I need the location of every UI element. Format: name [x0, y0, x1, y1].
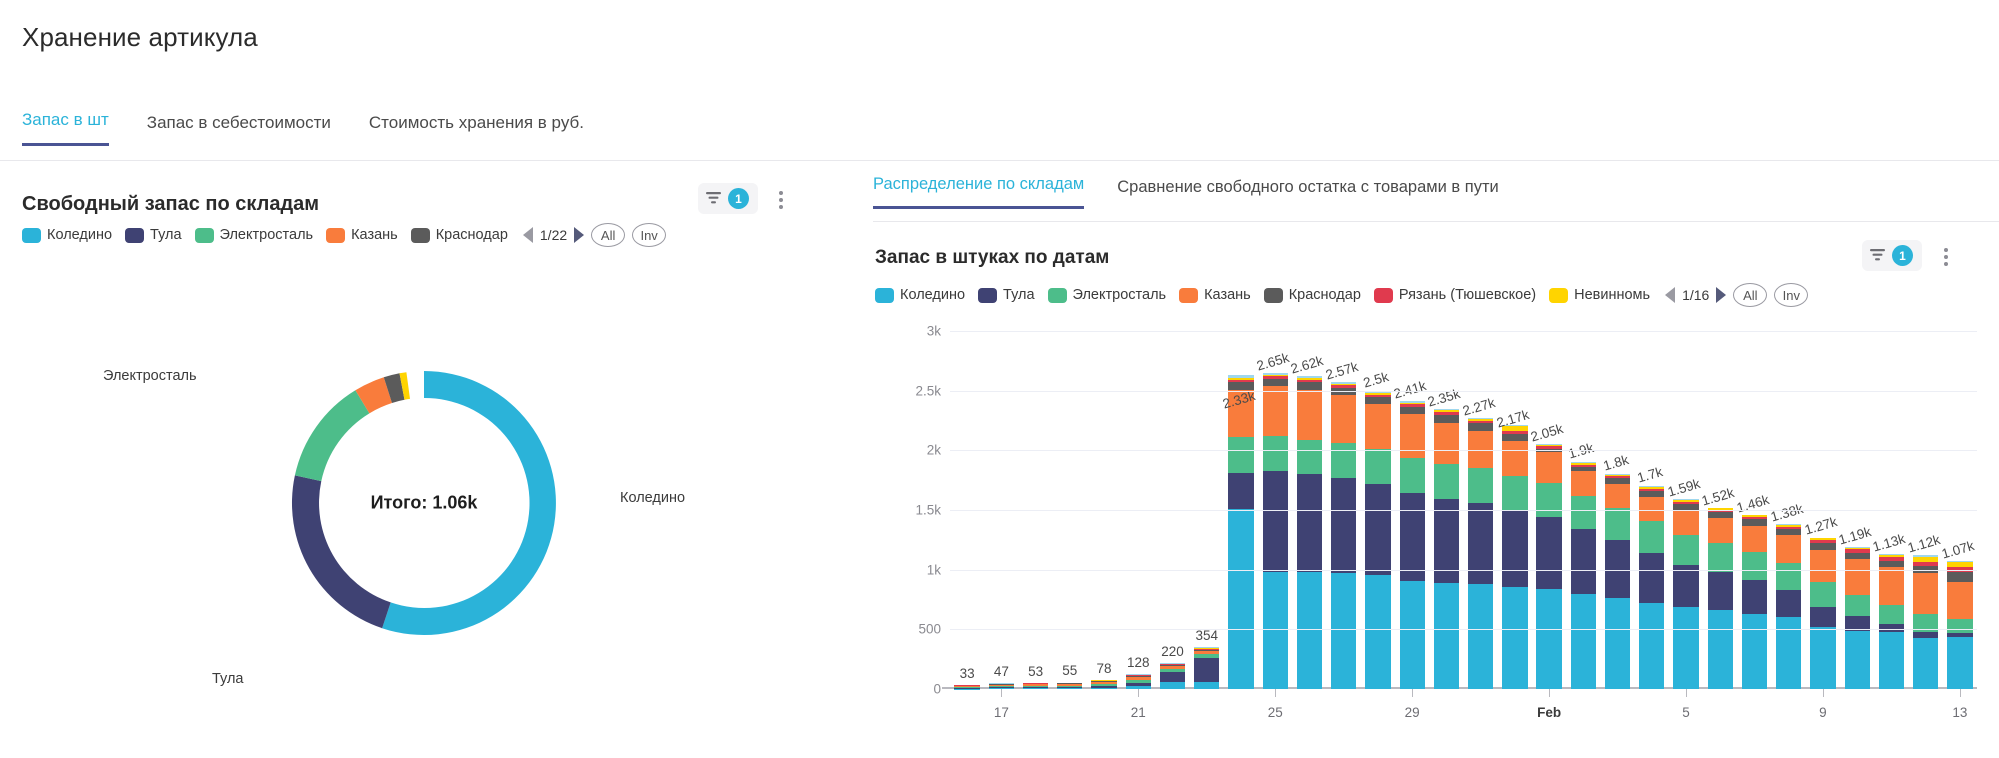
x-axis-tick-mark — [1686, 689, 1687, 697]
bar-segment — [1194, 682, 1219, 689]
x-axis-tick: 29 — [1405, 705, 1420, 720]
bar-stack: 1.46k — [1742, 515, 1767, 689]
x-axis-tick-mark — [1275, 689, 1276, 697]
bar-segment — [1776, 617, 1801, 689]
y-axis-tick: 2.5k — [915, 383, 941, 398]
bar-segment — [1331, 395, 1356, 443]
legend-label-krasnodar: Краснодар — [1289, 287, 1361, 303]
bar-segment — [1297, 474, 1322, 572]
bar-segment — [1468, 503, 1493, 584]
left-filter-control[interactable]: 1 — [698, 183, 758, 214]
left-panel: Свободный запас по складам 1 Коледино Ту… — [0, 161, 848, 758]
legend-label-krasnodar: Краснодар — [436, 227, 508, 243]
bar-segment — [1468, 584, 1493, 689]
bar-stack: 220 — [1160, 663, 1185, 689]
bar-segment — [1536, 483, 1561, 517]
legend-swatch-nevinnom — [1549, 288, 1568, 303]
legend-swatch-kazan — [326, 228, 345, 243]
bar-segment — [1297, 572, 1322, 689]
donut-label-elektrostal: Электросталь — [103, 368, 197, 384]
bar-segment — [1468, 423, 1493, 431]
legend-item-kazan[interactable]: Казань — [326, 227, 398, 243]
legend-label-tula: Тула — [150, 227, 182, 243]
bar-segment — [1879, 605, 1904, 624]
bar-segment — [1434, 415, 1459, 423]
funnel-icon — [1869, 248, 1886, 263]
bar-stack: 78 — [1091, 680, 1116, 689]
bar-value-label: 1.07k — [1940, 538, 1976, 562]
legend-item-kazan[interactable]: Казань — [1179, 287, 1251, 303]
bar-segment — [1673, 535, 1698, 565]
left-legend-pager: 1/22 All Inv — [523, 223, 666, 247]
x-axis-tick: 5 — [1682, 705, 1690, 720]
bar-segment — [1673, 565, 1698, 607]
bar-segment — [1673, 607, 1698, 689]
right-panel: Распределение по складам Сравнение свобо… — [848, 161, 1999, 758]
left-legend: Коледино Тула Электросталь Казань Красно… — [22, 223, 666, 247]
legend-swatch-tula — [125, 228, 144, 243]
bar-segment — [1400, 407, 1425, 414]
x-axis-tick-mark — [1412, 689, 1413, 697]
bar-stack: 1.9k — [1571, 462, 1596, 689]
bar-segment — [1879, 632, 1904, 689]
bar-stack: 2.33k — [1228, 411, 1253, 689]
bar-segment — [1263, 572, 1288, 689]
y-axis-tick: 3k — [927, 324, 941, 339]
bar-segment — [1845, 559, 1870, 595]
bar-value-label: 53 — [1028, 664, 1043, 679]
bar-segment — [1297, 382, 1322, 389]
right-sub-tab-bar: Распределение по складам Сравнение свобо… — [873, 175, 1499, 209]
bar-stack: 1.52k — [1708, 508, 1733, 689]
bar-segment — [1365, 397, 1390, 404]
x-axis-tick: 13 — [1952, 705, 1967, 720]
bar-stack: 1.13k — [1879, 554, 1904, 689]
left-panel-title: Свободный запас по складам — [22, 193, 319, 216]
bar-value-label: 78 — [1097, 661, 1112, 676]
bar-segment — [1605, 484, 1630, 508]
right-kebab-menu-icon[interactable] — [1940, 244, 1952, 270]
bar-segment — [1502, 434, 1527, 442]
bar-segment — [1605, 508, 1630, 540]
bar-stack: 2.5k — [1365, 391, 1390, 689]
bar-value-label: 2.65k — [1255, 350, 1291, 374]
bar-segment — [1742, 614, 1767, 689]
legend-swatch-koledino — [22, 228, 41, 243]
bar-segment — [1331, 573, 1356, 689]
bar-segment — [1365, 575, 1390, 689]
legend-swatch-ryazan — [1374, 288, 1393, 303]
bar-segment — [1536, 452, 1561, 483]
bar-stack: 1.27k — [1810, 537, 1835, 689]
gridline — [950, 331, 1977, 332]
tab-sravnenie-svobodnogo-ostatka[interactable]: Сравнение свободного остатка с товарами … — [1117, 178, 1498, 209]
bar-segment — [1879, 624, 1904, 632]
bar-segment — [1879, 567, 1904, 605]
bar-value-label: 220 — [1161, 644, 1184, 659]
bar-value-label: 55 — [1062, 663, 1077, 678]
y-axis-tick: 0 — [933, 682, 941, 697]
legend-label-tula: Тула — [1003, 287, 1035, 303]
bar-stack: 2.62k — [1297, 376, 1322, 689]
y-axis-tick: 2k — [927, 443, 941, 458]
top-tab-bar: Запас в шт Запас в себестоимости Стоимос… — [22, 110, 584, 146]
triangle-right-icon[interactable] — [574, 227, 584, 243]
legend-item-krasnodar[interactable]: Краснодар — [1264, 287, 1361, 303]
bar-segment — [1947, 572, 1972, 582]
legend-label-elektrostal: Электросталь — [1073, 287, 1167, 303]
bar-stack: 2.41k — [1400, 401, 1425, 689]
bar-segment — [1913, 573, 1938, 615]
bar-stack: 2.05k — [1536, 444, 1561, 689]
x-axis-tick: 21 — [1131, 705, 1146, 720]
bar-segment — [1571, 471, 1596, 497]
bar-stack: 1.19k — [1845, 547, 1870, 689]
bar-segment — [1536, 589, 1561, 689]
x-axis-tick: 17 — [994, 705, 1009, 720]
bar-segment — [1742, 526, 1767, 552]
bar-stack: 2.17k — [1502, 430, 1527, 689]
bar-segment — [1810, 607, 1835, 627]
bar-segment — [1571, 594, 1596, 689]
legend-label-elektrostal: Электросталь — [220, 227, 314, 243]
left-legend-all-button[interactable]: All — [591, 223, 625, 247]
bar-segment — [1947, 637, 1972, 690]
bar-segment — [1776, 535, 1801, 562]
bar-segment — [1639, 603, 1664, 689]
bar-value-label: 1.46k — [1734, 492, 1770, 516]
x-axis-tick-mark — [1960, 689, 1961, 697]
x-axis-tick-mark — [1001, 689, 1002, 697]
tab-stoimost-hraneniya[interactable]: Стоимость хранения в руб. — [369, 113, 584, 146]
bar-segment — [1776, 563, 1801, 590]
bar-value-label: 2.35k — [1426, 386, 1462, 410]
bar-segment — [1947, 619, 1972, 633]
bar-segment — [1228, 509, 1253, 689]
bar-segment — [1742, 580, 1767, 613]
y-axis-tick: 500 — [918, 622, 941, 637]
legend-item-nevinnom[interactable]: Невинномь — [1549, 287, 1650, 303]
bar-value-label: 33 — [960, 666, 975, 681]
legend-swatch-krasnodar — [411, 228, 430, 243]
bar-segment — [1468, 468, 1493, 503]
bar-segment — [1947, 582, 1972, 619]
bar-segment — [1365, 449, 1390, 485]
bar-segment — [1400, 493, 1425, 581]
bar-segment — [1708, 518, 1733, 542]
bar-segment — [1365, 484, 1390, 575]
x-axis-tick-mark — [1823, 689, 1824, 697]
gridline — [950, 450, 1977, 451]
left-legend-inv-button[interactable]: Inv — [632, 223, 666, 247]
bar-segment — [1639, 521, 1664, 553]
legend-item-elektrostal[interactable]: Электросталь — [1048, 287, 1167, 303]
legend-swatch-tula — [978, 288, 997, 303]
bar-value-label: 2.27k — [1461, 395, 1497, 419]
bar-segment — [1536, 517, 1561, 589]
bar-segment — [1810, 550, 1835, 582]
gridline — [950, 391, 1977, 392]
legend-item-ryazan[interactable]: Рязань (Тюшевское) — [1374, 287, 1536, 303]
tab-zapas-v-sht[interactable]: Запас в шт — [22, 110, 109, 146]
right-legend: Коледино Тула Электросталь Казань Красно… — [875, 283, 1808, 307]
right-sub-tab-divider — [873, 221, 1999, 222]
funnel-icon — [705, 191, 722, 206]
bar-value-label: 2.5k — [1362, 369, 1391, 390]
bar-segment — [1400, 414, 1425, 458]
legend-item-krasnodar[interactable]: Краснодар — [411, 227, 508, 243]
legend-label-koledino: Коледино — [47, 227, 112, 243]
donut-slice-elektrostal[interactable] — [295, 390, 370, 481]
right-legend-page: 1/16 — [1682, 287, 1709, 303]
x-axis-tick: 9 — [1819, 705, 1827, 720]
bar-stack: 1.8k — [1605, 474, 1630, 689]
legend-swatch-elektrostal — [195, 228, 214, 243]
bar-segment — [1571, 529, 1596, 593]
triangle-left-icon[interactable] — [523, 227, 533, 243]
bar-segment — [1297, 440, 1322, 475]
bar-segment — [1742, 552, 1767, 581]
bar-segment — [1228, 437, 1253, 473]
tab-zapas-v-sebestoimosti[interactable]: Запас в себестоимости — [147, 113, 331, 146]
bar-stack: 2.57k — [1331, 382, 1356, 689]
x-axis-tick-mark — [1549, 689, 1550, 697]
bar-value-label: 1.38k — [1769, 501, 1805, 525]
x-axis-tick-mark — [1138, 689, 1139, 697]
bar-segment — [1263, 436, 1288, 471]
bar-value-label: 1.13k — [1871, 531, 1907, 555]
bar-segment — [1331, 443, 1356, 479]
bar-segment — [1194, 658, 1219, 682]
bar-segment — [1502, 587, 1527, 689]
left-legend-page: 1/22 — [540, 227, 567, 243]
bar-segment — [1434, 583, 1459, 689]
bar-segment — [1810, 582, 1835, 607]
x-axis-tick: Feb — [1537, 705, 1561, 720]
bar-value-label: 1.8k — [1601, 452, 1630, 473]
donut-label-tula: Тула — [212, 671, 244, 687]
bar-segment — [1434, 423, 1459, 464]
legend-label-nevinnom: Невинномь — [1574, 287, 1650, 303]
bar-segment — [1708, 543, 1733, 572]
x-axis-tick: 25 — [1268, 705, 1283, 720]
legend-item-koledino[interactable]: Коледино — [875, 287, 965, 303]
legend-label-koledino: Коледино — [900, 287, 965, 303]
bar-segment — [1571, 496, 1596, 529]
bar-stack: 1.7k — [1639, 486, 1664, 689]
bar-segment — [1297, 390, 1322, 440]
donut-chart: Итого: 1.06k Коледино Тула Электросталь — [0, 253, 848, 753]
bar-segment — [1776, 590, 1801, 617]
bar-value-label: 1.52k — [1700, 485, 1736, 509]
bar-stack: 1.12k — [1913, 555, 1938, 689]
left-kebab-menu-icon[interactable] — [775, 187, 787, 213]
bar-chart-plot-area: 33475355781282203542.33k2.65k2.62k2.57k2… — [950, 331, 1977, 689]
bar-stack: 1.59k — [1673, 499, 1698, 689]
tab-raspredelenie-po-skladam[interactable]: Распределение по складам — [873, 175, 1084, 209]
bar-value-label: 2.05k — [1529, 421, 1565, 445]
bar-value-label: 2.62k — [1289, 353, 1325, 377]
gridline — [950, 510, 1977, 511]
bar-segment — [1434, 464, 1459, 500]
bar-stack: 2.65k — [1263, 373, 1288, 689]
bar-value-label: 1.7k — [1635, 464, 1664, 485]
gridline — [950, 570, 1977, 571]
bar-segment — [1263, 471, 1288, 572]
bar-segment — [1708, 610, 1733, 689]
bar-segment — [1605, 598, 1630, 689]
right-filter-badge: 1 — [1892, 245, 1913, 266]
legend-swatch-kazan — [1179, 288, 1198, 303]
legend-swatch-krasnodar — [1264, 288, 1283, 303]
bar-value-label: 1.12k — [1906, 532, 1942, 556]
legend-item-tula[interactable]: Тула — [125, 227, 182, 243]
triangle-left-icon[interactable] — [1665, 287, 1675, 303]
legend-label-kazan: Казань — [1204, 287, 1251, 303]
bar-segment — [1502, 476, 1527, 511]
bar-value-label: 1.27k — [1803, 514, 1839, 538]
bar-segment — [1913, 638, 1938, 689]
legend-label-kazan: Казань — [351, 227, 398, 243]
right-legend-all-button[interactable]: All — [1733, 283, 1767, 307]
bar-segment — [1708, 572, 1733, 610]
y-axis-tick: 1k — [927, 562, 941, 577]
bar-value-label: 1.59k — [1666, 476, 1702, 500]
bar-segment — [1810, 627, 1835, 689]
right-legend-inv-button[interactable]: Inv — [1774, 283, 1808, 307]
bar-segment — [1673, 511, 1698, 535]
bar-stack: 354 — [1194, 647, 1219, 689]
donut-center-total: Итого: 1.06k — [371, 493, 478, 514]
left-filter-badge: 1 — [728, 188, 749, 209]
legend-item-koledino[interactable]: Коледино — [22, 227, 112, 243]
bar-stack: 1.38k — [1776, 524, 1801, 689]
triangle-right-icon[interactable] — [1716, 287, 1726, 303]
bar-segment — [1400, 458, 1425, 493]
donut-label-koledino: Коледино — [620, 490, 685, 506]
legend-label-ryazan: Рязань (Тюшевское) — [1399, 287, 1536, 303]
bar-segment — [1160, 672, 1185, 683]
page-title: Хранение артикула — [22, 22, 258, 53]
bar-stack: 1.07k — [1947, 561, 1972, 689]
bar-stack: 128 — [1126, 674, 1151, 689]
bar-segment — [1639, 553, 1664, 603]
legend-item-tula[interactable]: Тула — [978, 287, 1035, 303]
bar-segment — [1228, 473, 1253, 509]
legend-item-elektrostal[interactable]: Электросталь — [195, 227, 314, 243]
bar-value-label: 1.19k — [1837, 524, 1873, 548]
bar-segment — [1400, 581, 1425, 689]
right-panel-title: Запас в штуках по датам — [875, 247, 1109, 269]
bar-segment — [1468, 431, 1493, 468]
bar-segment — [1365, 404, 1390, 448]
legend-swatch-elektrostal — [1048, 288, 1067, 303]
right-filter-control[interactable]: 1 — [1862, 240, 1922, 271]
stock-by-date-bar-chart: 33475355781282203542.33k2.65k2.62k2.57k2… — [875, 321, 1985, 741]
bar-value-label: 47 — [994, 664, 1009, 679]
bar-stack: 2.27k — [1468, 418, 1493, 689]
bar-segment — [1263, 386, 1288, 436]
bar-segment — [1502, 441, 1527, 476]
bar-segment — [1502, 511, 1527, 587]
bar-segment — [1263, 379, 1288, 386]
bar-segment — [1845, 595, 1870, 616]
bar-value-label: 2.57k — [1324, 359, 1360, 383]
bar-segment — [1845, 631, 1870, 689]
gridline — [950, 629, 1977, 630]
y-axis-tick: 1.5k — [915, 503, 941, 518]
legend-swatch-koledino — [875, 288, 894, 303]
bar-value-label: 128 — [1127, 655, 1150, 670]
bar-segment — [1331, 478, 1356, 573]
right-legend-pager: 1/16 All Inv — [1665, 283, 1808, 307]
